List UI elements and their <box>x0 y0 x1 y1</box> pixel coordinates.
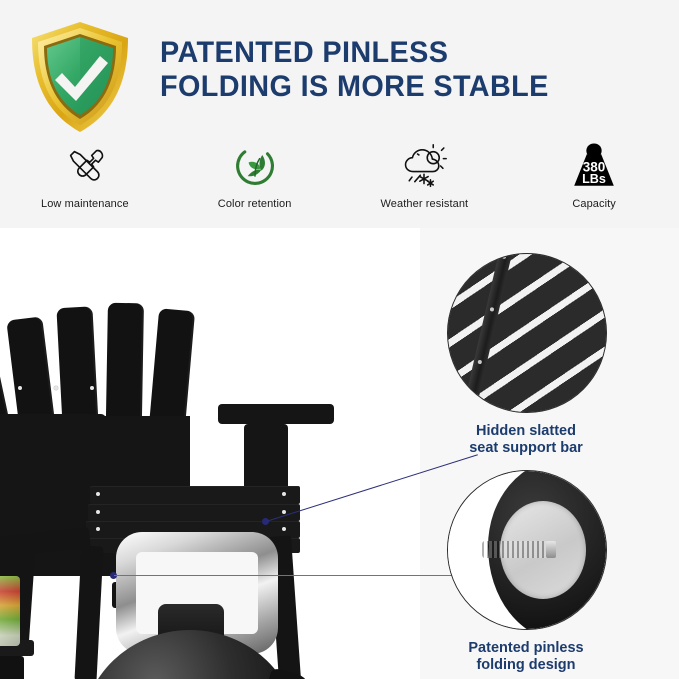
title-line-1: PATENTED PINLESS <box>160 36 640 70</box>
side-table-base <box>0 656 24 679</box>
feature-label: Weather resistant <box>381 198 469 210</box>
adirondack-chair: 380LBs <box>0 236 412 679</box>
caption-line-2: seat support bar <box>426 440 626 457</box>
caption-line-1: Hidden slatted <box>426 423 626 440</box>
cloud-sun-snow-icon <box>394 140 454 192</box>
feature-label: Low maintenance <box>41 198 129 210</box>
caption-line-2: folding design <box>426 657 626 674</box>
title-line-2: FOLDING IS MORE STABLE <box>160 70 640 104</box>
threaded-bolt <box>482 541 554 558</box>
product-photo: 380LBs <box>0 228 420 679</box>
feature-label: Capacity <box>572 198 616 210</box>
feature-list: Low maintenance Color retention <box>0 140 679 224</box>
capacity-unit: LBs <box>582 172 606 186</box>
feature-label: Color retention <box>218 198 292 210</box>
caption-line-1: Patented pinless <box>426 640 626 657</box>
callout-image-bolt <box>447 470 607 630</box>
drink-glass <box>0 576 20 646</box>
tools-wrench-screwdriver-icon <box>55 140 115 192</box>
shield-check-icon <box>24 16 136 138</box>
callout-caption-slats: Hidden slatted seat support bar <box>426 423 626 457</box>
feature-weather-resistant: Weather resistant <box>340 140 510 224</box>
callout-pinless-folding: Patented pinless folding design <box>447 470 626 674</box>
page-title: PATENTED PINLESS FOLDING IS MORE STABLE <box>160 36 660 104</box>
callout-slatted-seat-support: Hidden slatted seat support bar <box>447 253 626 457</box>
weight-capacity-icon: 380 LBs <box>564 140 624 192</box>
pointer-line-bolt <box>114 575 462 576</box>
feature-color-retention: Color retention <box>170 140 340 224</box>
callout-image-slats <box>447 253 607 413</box>
callout-caption-bolt: Patented pinless folding design <box>426 640 626 674</box>
bolt-tip <box>546 541 556 558</box>
feature-low-maintenance: Low maintenance <box>0 140 170 224</box>
leaf-circle-icon <box>225 140 285 192</box>
feature-capacity: 380 LBs Capacity <box>509 140 679 224</box>
infographic-page: PATENTED PINLESS FOLDING IS MORE STABLE … <box>0 0 679 679</box>
